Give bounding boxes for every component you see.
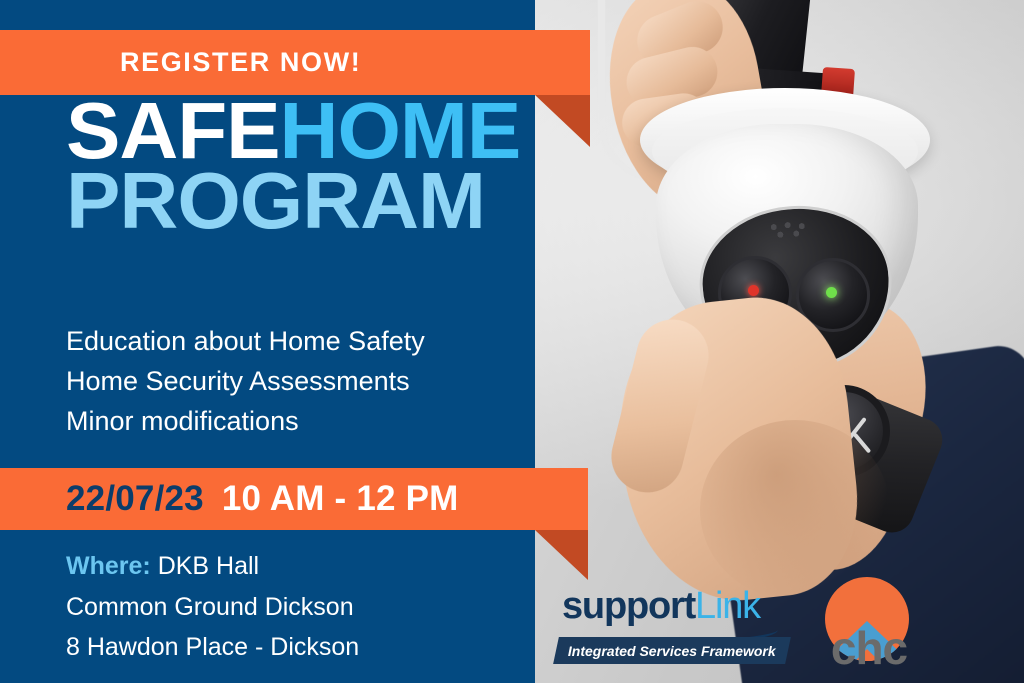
lens-indicator-red xyxy=(748,285,759,296)
palm-shadow xyxy=(700,420,890,600)
event-time: 10 AM - 12 PM xyxy=(222,479,459,519)
chc-wordmark: chc xyxy=(810,621,928,675)
service-item: Education about Home Safety xyxy=(66,322,425,362)
date-time-banner: 22/07/23 10 AM - 12 PM xyxy=(0,468,588,530)
datetime-ribbon-fold xyxy=(535,530,588,580)
headline-program: PROGRAM xyxy=(66,166,520,236)
service-item: Minor modifications xyxy=(66,402,425,442)
lens-indicator-green xyxy=(826,287,837,298)
venue-details: Where: DKB Hall Common Ground Dickson 8 … xyxy=(66,546,359,668)
service-item: Home Security Assessments xyxy=(66,362,425,402)
where-label: Where: xyxy=(66,552,151,580)
infrared-led-array xyxy=(767,220,812,239)
page-title: SAFEHOME PROGRAM xyxy=(66,96,511,235)
venue-name: DKB Hall xyxy=(158,552,259,580)
safe-home-program-flyer: REGISTER NOW! SAFEHOME PROGRAM Education… xyxy=(0,0,1024,683)
event-date: 22/07/23 xyxy=(66,479,204,519)
supportlink-logo: supportLink Integrated Services Framewor… xyxy=(556,577,788,669)
venue-organisation: Common Ground Dickson xyxy=(66,587,359,628)
register-now-label: REGISTER NOW! xyxy=(120,47,361,78)
supportlink-tagline-banner: Integrated Services Framework xyxy=(553,637,791,664)
venue-address: 8 Hawdon Place - Dickson xyxy=(66,627,359,668)
services-list: Education about Home Safety Home Securit… xyxy=(66,322,425,442)
chc-logo: chc xyxy=(810,577,928,669)
venue-line-where: Where: DKB Hall xyxy=(66,546,359,587)
register-ribbon-fold xyxy=(535,95,590,147)
supportlink-tagline: Integrated Services Framework xyxy=(568,643,776,659)
logo-row: supportLink Integrated Services Framewor… xyxy=(556,574,976,669)
